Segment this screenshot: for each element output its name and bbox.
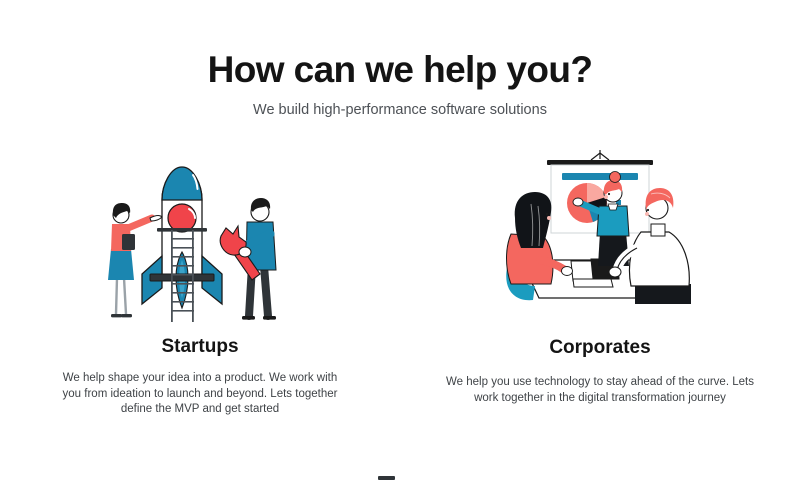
presenter-eye [608,193,610,195]
pointing-figure-bag [122,234,135,250]
wrench-figure-shoe-right [263,316,276,320]
landing-services-section: How can we help you? We build high-perfo… [0,0,800,480]
person-with-wrench-figure [220,198,276,320]
pointing-figure-leg-left [116,278,117,314]
presenter-hand [573,198,583,206]
service-card-corporates[interactable]: Corporates We help you use technology to… [400,148,800,480]
pointing-figure-arm [128,218,152,228]
service-title-startups: Startups [0,335,400,359]
man-eye [647,209,649,211]
woman-eye [546,213,548,215]
pointing-figure-skirt [108,249,134,280]
rocket-launch-illustration [100,148,300,328]
ladder-rail-left [171,230,173,322]
wrench-figure-leg-right [264,266,268,316]
service-description-startups: We help shape your idea into a product. … [57,371,343,418]
ladder-top-rail [157,228,207,232]
presenter-hair-bun [610,172,621,183]
slide-title-bar [562,173,638,180]
board-top-bar [547,160,653,165]
man-shirt [629,232,689,286]
man-seat [635,284,691,304]
presenter-collar [608,204,618,210]
service-description-corporates: We help you use technology to stay ahead… [445,375,755,406]
startups-artwork [0,148,400,328]
wrench-figure-shoe-left [242,316,255,320]
service-title-corporates: Corporates [400,336,800,360]
corporates-artwork [400,148,800,308]
section-header: How can we help you? We build high-perfo… [0,48,800,119]
pointing-figure-shoe-left [111,314,122,317]
woman-cheek [547,216,551,220]
next-section-clipped-element [378,476,395,480]
service-card-startups[interactable]: Startups We help shape your idea into a … [0,148,400,480]
man-cheek [645,212,649,216]
page-title: How can we help you? [0,48,800,92]
man-hand [609,267,621,277]
pointing-figure-leg-right [124,278,126,314]
business-meeting-presentation-illustration [485,148,715,308]
document-sheet-bottom [573,279,613,287]
presenter-cheek [604,195,608,199]
wrench-figure-hand [239,247,251,257]
man-neck [651,224,665,236]
rocket-porthole [168,204,196,232]
pointing-figure-shoe-right [121,314,132,317]
woman-hand [562,267,573,276]
services-grid: Startups We help shape your idea into a … [0,148,800,480]
page-subtitle: We build high-performance software solut… [0,101,800,119]
ladder-rail-right [192,230,194,322]
person-pointing-figure [108,203,162,317]
